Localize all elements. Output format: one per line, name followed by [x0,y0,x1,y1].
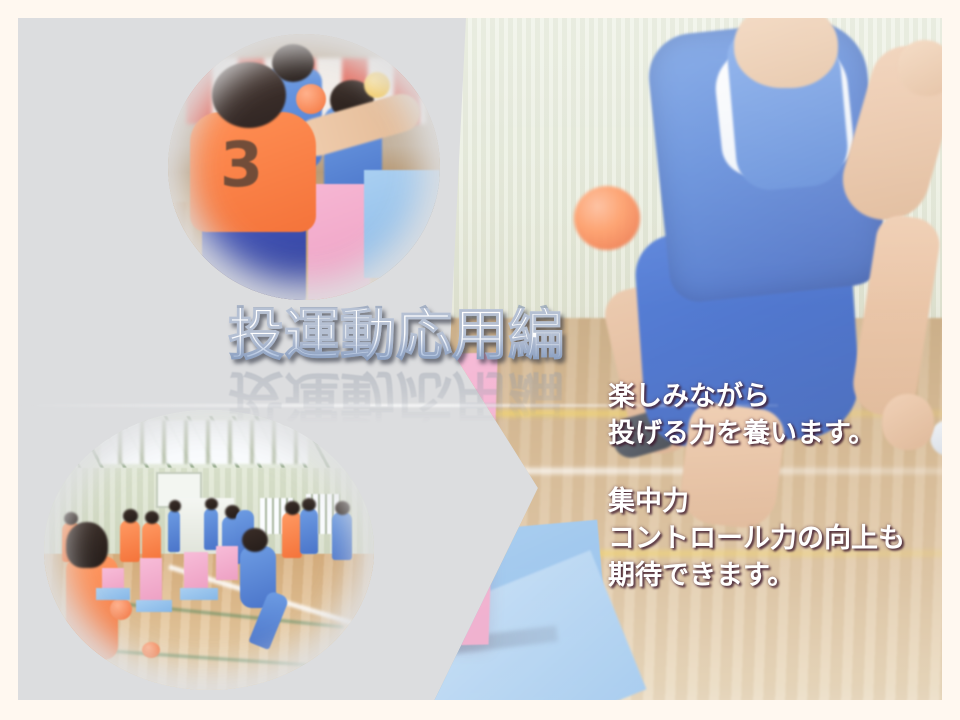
child-head-bg-7 [302,498,316,511]
child-blue-bg-5 [332,512,352,560]
teacher-head [169,500,181,512]
caption-line-5: 期待できます。 [608,557,942,594]
child-head-bg-3 [145,511,159,524]
target-blue-base-1 [96,588,130,600]
child-head-bg-6 [285,501,300,515]
page-title: 投運動応用編 [228,308,564,364]
target-blue-base-3 [180,588,218,600]
child-head-bg-8 [335,501,350,515]
title-group: 投運動応用編 投運動応用編 [210,308,610,426]
foreground-child-head [66,522,108,568]
child-orange-bg-2 [120,520,140,562]
caption-line-2: 投げる力を養います。 [608,415,942,452]
slide-root: 3 [0,0,960,720]
caption-line-4: コントロール力の向上も [608,520,942,557]
ball-in-hand [110,598,132,620]
caption-spacer [608,453,942,483]
ball-on-floor [142,642,160,658]
clerestory-windows [100,420,308,464]
child-head-bg-1 [64,512,78,525]
child-orange-bg-3 [142,522,161,562]
caption-line-1: 楽しみながら [608,378,942,415]
child-head-bg-2 [123,509,138,523]
target-pink-3 [184,552,208,590]
bib-number-label: 3 [220,128,263,201]
running-child-head [242,528,268,552]
target-blue-base-2 [136,600,172,612]
child-head-bg-4 [205,498,218,510]
orange-ball-small [296,84,326,114]
photo-top-left-oval: 3 [168,34,440,300]
child-orange-head [212,62,286,128]
child-blue-bg-1 [204,508,218,550]
caption-line-3: 集中力 [608,483,942,520]
page-title-reflection: 投運動応用編 [228,367,564,423]
child-orange-shorts [202,220,306,300]
yellow-ball [364,72,390,98]
blue-target-oval-top [364,170,440,278]
slide-panel: 3 [18,18,942,700]
target-pink-4 [216,546,238,580]
child-blue-bg-4 [300,508,318,554]
photo-bottom-left-oval [44,410,374,690]
target-pink-2 [140,558,162,602]
adult-teacher [168,510,180,552]
caption-block: 楽しみながら 投げる力を養います。 集中力 コントロール力の向上も 期待できます… [608,378,942,594]
child-orange-bg-4 [282,512,302,558]
pink-target-oval-top [308,184,370,300]
